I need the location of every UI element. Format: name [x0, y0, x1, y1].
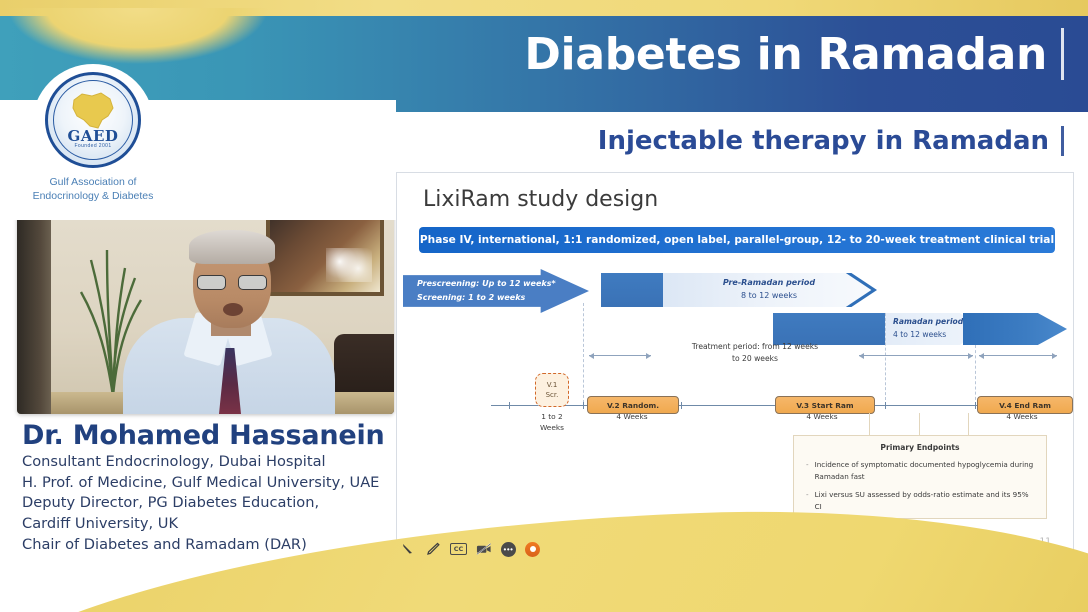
credential-line: Consultant Endocrinology, Dubai Hospital [22, 452, 394, 473]
interval-label-1: 1 to 2 Weeks [527, 411, 577, 433]
closed-caption-icon[interactable]: CC [450, 543, 467, 555]
logo-founded-text: Founded 2001 [48, 143, 138, 149]
more-options-icon[interactable]: ••• [501, 542, 516, 557]
pre-ramadan-label: Pre-Ramadan period [723, 277, 815, 290]
bullet-dash-icon: - [806, 459, 809, 482]
timeline-tick [885, 402, 886, 409]
glasses-icon [197, 275, 267, 290]
pre-ramadan-bar [601, 273, 663, 307]
pre-ramadan-arrow: Pre-Ramadan period 8 to 12 weeks [663, 273, 875, 307]
cc-label: CC [454, 545, 464, 553]
endpoint-item: - Lixi versus SU assessed by odds-ratio … [806, 489, 1036, 512]
speaker-figure [123, 236, 335, 414]
title-divider [1061, 28, 1064, 80]
treatment-arrow-left [589, 355, 651, 356]
endpoints-title: Primary Endpoints [794, 443, 1046, 452]
treatment-line1: Treatment period: from 12 weeks [655, 341, 855, 353]
video-left-panel [17, 206, 51, 414]
visit-v1-line1: V.1 [547, 380, 558, 391]
visit-v4-label: V.4 End Ram [999, 401, 1051, 410]
logo-seal-icon: GAED Founded 2001 [45, 72, 141, 168]
camera-off-icon[interactable] [476, 541, 492, 557]
bullet-dash-icon: - [806, 489, 809, 512]
shared-slide[interactable]: LixiRam study design Phase IV, internati… [396, 172, 1074, 562]
endpoint-item: - Incidence of symptomatic documented hy… [806, 459, 1036, 482]
treatment-arrow-right [859, 355, 973, 356]
logo-caption: Gulf Association of Endocrinology & Diab… [26, 175, 160, 203]
pre-ramadan-duration: 8 to 12 weeks [741, 290, 797, 303]
prescreening-line2: Screening: 1 to 2 weeks [417, 291, 589, 305]
endpoint-text: Lixi versus SU assessed by odds-ratio es… [815, 489, 1036, 512]
phase-banner: Phase IV, international, 1:1 randomized,… [419, 227, 1055, 253]
speaker-video-tile[interactable] [17, 206, 394, 414]
endpoint-text: Incidence of symptomatic documented hypo… [815, 459, 1036, 482]
post-arrow [979, 355, 1057, 356]
interval-2-line1: 4 Weeks [599, 411, 665, 422]
logo-caption-line1: Gulf Association of [26, 175, 160, 189]
subtitle-divider [1061, 126, 1064, 156]
pen-icon[interactable] [425, 541, 441, 557]
page-subtitle: Injectable therapy in Ramadan [598, 126, 1049, 156]
timeline-tick [509, 402, 510, 409]
header-gold-wave [8, 8, 268, 70]
speaker-credentials: Consultant Endocrinology, Dubai Hospital… [22, 452, 394, 556]
credential-line: Cardiff University, UK [22, 514, 394, 535]
interval-4-line1: 4 Weeks [989, 411, 1055, 422]
guide-dash-3 [975, 345, 976, 405]
visit-v1-line2: Scr. [546, 390, 559, 401]
presentation-toolbar[interactable]: CC ••• [400, 538, 540, 560]
primary-endpoints-box: Primary Endpoints - Incidence of symptom… [793, 435, 1047, 519]
interval-3-line1: 4 Weeks [789, 411, 855, 422]
prescreening-line1: Prescreening: Up to 12 weeks* [417, 277, 589, 291]
gulf-map-icon [68, 90, 118, 132]
visit-v3-label: V.3 Start Ram [796, 401, 853, 410]
header-subtitle-group: Injectable therapy in Ramadan [598, 126, 1064, 156]
header-title-group: Diabetes in Ramadan [524, 28, 1064, 80]
phase-banner-text: Phase IV, international, 1:1 randomized,… [420, 234, 1054, 246]
ramadan-arrow-solid [963, 313, 1067, 345]
credential-line: Deputy Director, PG Diabetes Education, [22, 493, 394, 514]
webinar-screen: Diabetes in Ramadan Injectable therapy i… [0, 0, 1088, 612]
visit-marker-v1[interactable]: V.1 Scr. [535, 373, 569, 407]
gaed-logo: GAED Founded 2001 Gulf Association of En… [26, 72, 160, 203]
interval-label-3: 4 Weeks [789, 411, 855, 422]
speaker-name: Dr. Mohamed Hassanein [22, 420, 385, 451]
prescreening-arrow: Prescreening: Up to 12 weeks* Screening:… [403, 269, 589, 313]
guide-dash-2 [885, 313, 886, 405]
logo-caption-line2: Endocrinology & Diabetes [26, 189, 160, 203]
pointer-icon[interactable] [400, 541, 416, 557]
credential-line: H. Prof. of Medicine, Gulf Medical Unive… [22, 473, 394, 494]
visit-v2-label: V.2 Random. [607, 401, 659, 410]
guide-dash-1 [583, 303, 584, 403]
treatment-period-label: Treatment period: from 12 weeks to 20 we… [655, 341, 855, 365]
study-timeline-axis [491, 405, 1057, 406]
interval-label-4: 4 Weeks [989, 411, 1055, 422]
record-icon[interactable] [525, 542, 540, 557]
interval-label-2: 4 Weeks [599, 411, 665, 422]
interval-1-line2: Weeks [527, 422, 577, 433]
timeline-tick [583, 402, 584, 409]
timeline-tick [975, 402, 976, 409]
endpoints-stem [919, 413, 920, 435]
treatment-line2: to 20 weeks [655, 353, 855, 365]
page-title: Diabetes in Ramadan [524, 29, 1047, 80]
slide-title: LixiRam study design [423, 187, 658, 212]
more-dots: ••• [504, 545, 514, 554]
speaker-hair [189, 230, 275, 264]
interval-1-line1: 1 to 2 [527, 411, 577, 422]
speaker-mouth [223, 303, 243, 316]
timeline-tick [681, 402, 682, 409]
